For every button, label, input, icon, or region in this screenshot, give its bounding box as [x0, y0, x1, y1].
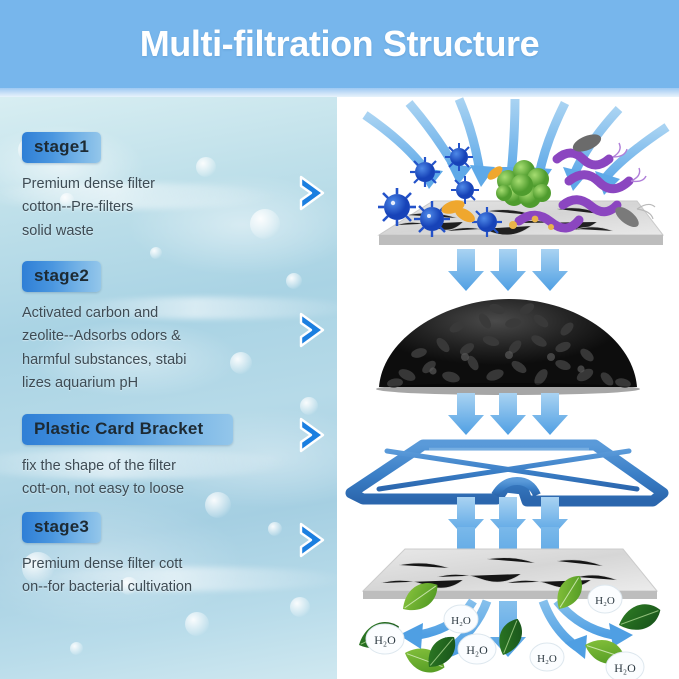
stage-desc-line: zeolite--Adsorbs odors & — [22, 325, 322, 348]
water-foam-bubble — [70, 642, 83, 655]
stage-block-2: stage2 Activated carbon and zeolite--Ads… — [22, 261, 322, 395]
header-underband — [0, 88, 679, 97]
water-molecule-label: H₂O — [606, 652, 644, 679]
stage-description-2: Activated carbon and zeolite--Adsorbs od… — [22, 302, 322, 396]
stage-badge-1: stage1 — [22, 132, 101, 163]
stage-desc-line: harmful substances, stabi — [22, 349, 322, 372]
stage-desc-line: Activated carbon and — [22, 302, 322, 325]
water-label-text: H₂O — [614, 661, 636, 675]
microbe-blue-virus-group — [378, 143, 502, 237]
chevron-right-icon — [295, 173, 329, 213]
left-text-panel: stage1 Premium dense filter cotton--Pre-… — [0, 97, 337, 679]
stage-badge-3: Plastic Card Bracket — [22, 414, 233, 445]
water-molecule-label: H₂O — [366, 624, 404, 654]
stage-desc-line: cotton--Pre-filters — [22, 196, 322, 219]
stage-block-4: stage3 Premium dense filter cott on--for… — [22, 512, 322, 600]
bracket-frame — [351, 445, 663, 501]
water-foam-bubble — [150, 247, 162, 259]
stage-block-3: Plastic Card Bracket fix the shape of th… — [22, 414, 322, 502]
water-label-text: H₂O — [451, 615, 471, 627]
stage-desc-line: cott-on, not easy to loose — [22, 478, 322, 501]
stage-desc-line: Premium dense filter cott — [22, 553, 322, 576]
chevron-right-icon — [295, 310, 329, 350]
stage-desc-line: Premium dense filter — [22, 173, 322, 196]
chevron-right-icon — [295, 520, 329, 560]
illustration-plastic-card-bracket — [337, 427, 679, 507]
water-molecule-label: H₂O — [444, 605, 478, 633]
chevron-right-icon — [295, 415, 329, 455]
stage-desc-line: on--for bacterial cultivation — [22, 576, 322, 599]
water-label-text: H₂O — [374, 633, 396, 647]
water-molecule-label: H₂O — [530, 643, 564, 671]
stage-desc-line: fix the shape of the filter — [22, 455, 322, 478]
page-title: Multi-filtration Structure — [0, 0, 679, 88]
illustration-filter-cotton-bacterial-cultivation: H₂O H₂O H₂O H₂O — [337, 527, 679, 679]
illustration-filter-cotton-with-contaminants — [337, 97, 679, 267]
stage-description-3: fix the shape of the filter cott-on, not… — [22, 455, 322, 502]
header-banner: Multi-filtration Structure — [0, 0, 679, 88]
water-foam-bubble — [300, 397, 318, 415]
stage-description-1: Premium dense filter cotton--Pre-filters… — [22, 173, 322, 243]
stage-desc-line: lizes aquarium pH — [22, 372, 322, 395]
water-molecule-label: H₂O — [458, 634, 496, 664]
water-foam-bubble — [185, 612, 209, 636]
water-label-text: H₂O — [466, 643, 488, 657]
illustration-activated-carbon-pellets — [337, 283, 679, 399]
stage-desc-line: solid waste — [22, 220, 322, 243]
water-label-text: H₂O — [537, 653, 557, 665]
right-illustration-panel: H₂O H₂O H₂O H₂O — [337, 97, 679, 679]
water-label-text: H₂O — [595, 595, 615, 607]
infographic-page: Multi-filtration Structure stage1 Premiu… — [0, 0, 679, 679]
water-foam-bubble — [290, 597, 310, 617]
stage-badge-4: stage3 — [22, 512, 101, 543]
water-molecule-label: H₂O — [588, 585, 622, 613]
stage-badge-2: stage2 — [22, 261, 101, 292]
stage-block-1: stage1 Premium dense filter cotton--Pre-… — [22, 132, 322, 243]
stage-description-4: Premium dense filter cott on--for bacter… — [22, 553, 322, 600]
